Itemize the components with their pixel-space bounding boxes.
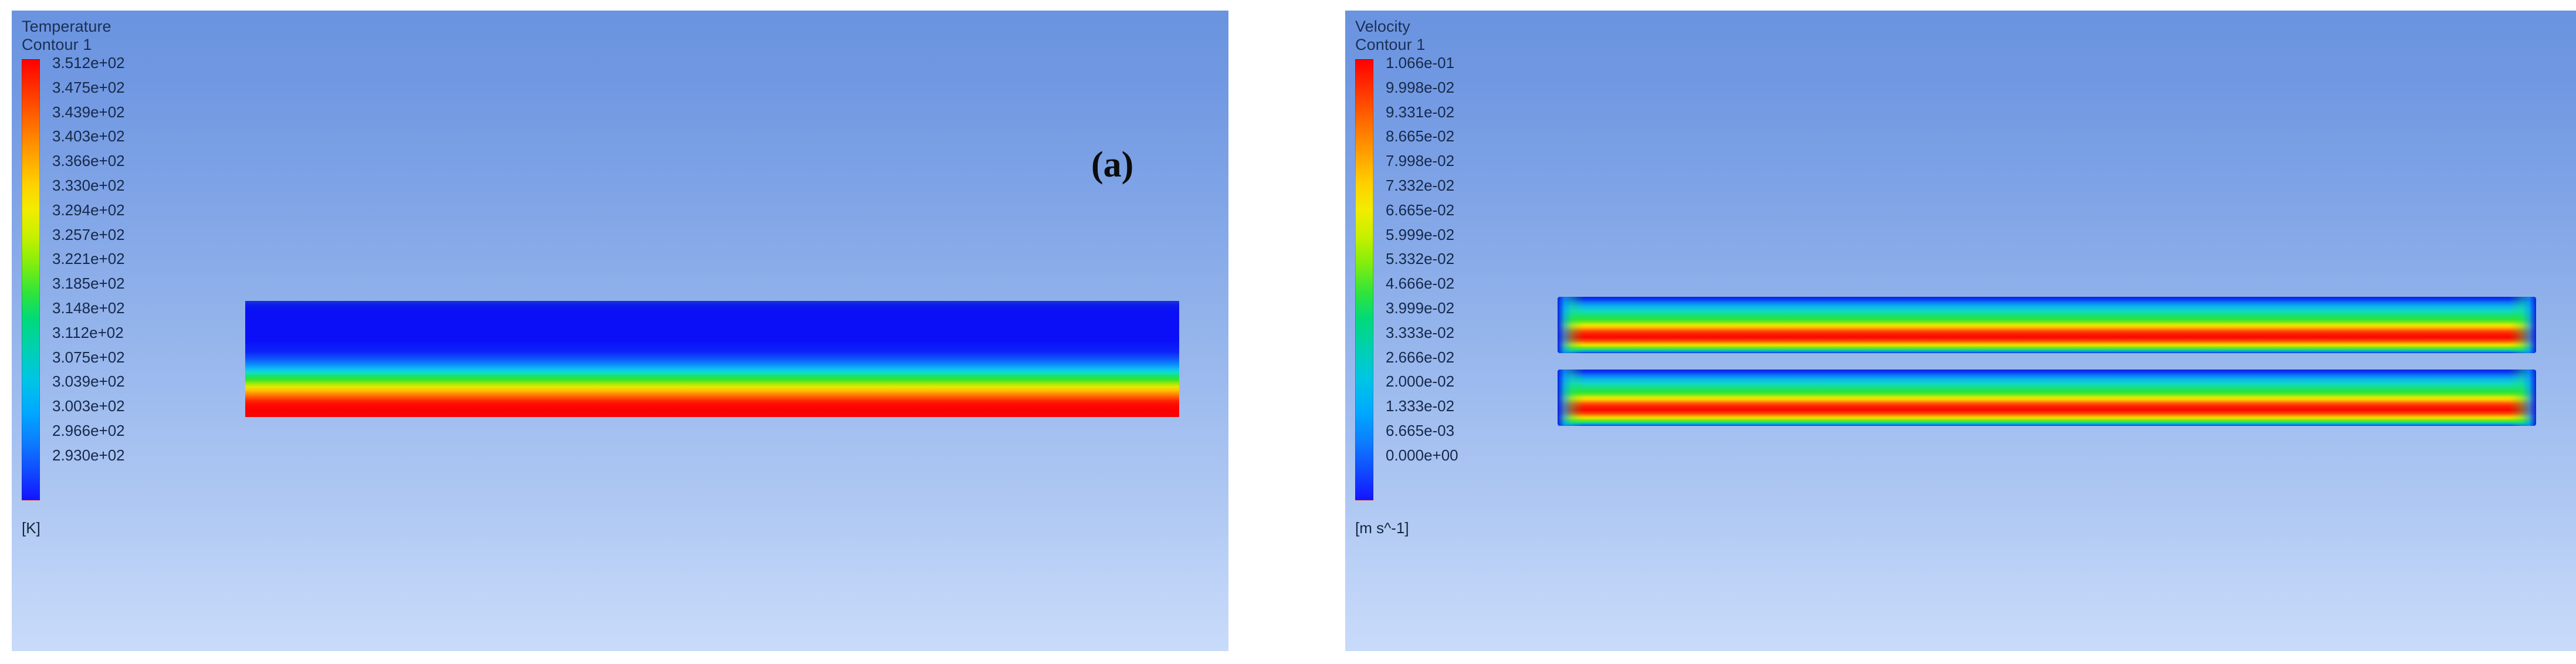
tick-value: 2.666e-02 bbox=[1386, 345, 1532, 370]
tick-value: 3.221e+02 bbox=[52, 247, 199, 272]
figure-root: Temperature Contour 1 3.512e+02 3.475e+0… bbox=[0, 0, 2576, 664]
tick-value: 8.665e-02 bbox=[1386, 124, 1532, 149]
temperature-legend-title-line1: Temperature bbox=[22, 18, 198, 36]
tick-value: 3.366e+02 bbox=[52, 149, 199, 174]
tick-value: 3.039e+02 bbox=[52, 370, 199, 394]
tick-value: 3.003e+02 bbox=[52, 394, 199, 419]
tick-value: 1.066e-01 bbox=[1386, 51, 1532, 76]
tick-value: 3.333e-02 bbox=[1386, 321, 1532, 345]
panel-velocity: Velocity Contour 1 1.066e-01 9.998e-02 9… bbox=[1345, 11, 2576, 651]
tick-value: 3.330e+02 bbox=[52, 174, 199, 198]
velocity-channel-lower-outlet-cap bbox=[2509, 370, 2536, 426]
velocity-tick-list: 1.066e-01 9.998e-02 9.331e-02 8.665e-02 … bbox=[1386, 51, 1532, 468]
tick-value: 2.966e+02 bbox=[52, 419, 199, 443]
velocity-legend: Velocity Contour 1 1.066e-01 9.998e-02 9… bbox=[1355, 18, 1531, 500]
tick-value: 3.075e+02 bbox=[52, 345, 199, 370]
tick-value: 3.403e+02 bbox=[52, 124, 199, 149]
tick-value: 3.112e+02 bbox=[52, 321, 199, 345]
velocity-legend-units: [m s^-1] bbox=[1355, 519, 1409, 537]
tick-value: 5.332e-02 bbox=[1386, 247, 1532, 272]
velocity-legend-body: 1.066e-01 9.998e-02 9.331e-02 8.665e-02 … bbox=[1355, 59, 1531, 500]
tick-value: 5.999e-02 bbox=[1386, 223, 1532, 248]
panel-temperature: Temperature Contour 1 3.512e+02 3.475e+0… bbox=[12, 11, 1228, 651]
tick-value: 3.475e+02 bbox=[52, 76, 199, 100]
velocity-channel-upper-outlet-cap bbox=[2509, 297, 2536, 353]
velocity-legend-title-line1: Velocity bbox=[1355, 18, 1531, 36]
tick-value: 2.930e+02 bbox=[52, 443, 199, 468]
tick-value: 3.148e+02 bbox=[52, 296, 199, 321]
velocity-channel-lower bbox=[1558, 370, 2536, 426]
tick-value: 9.998e-02 bbox=[1386, 76, 1532, 100]
tick-value: 2.000e-02 bbox=[1386, 370, 1532, 394]
velocity-colorbar bbox=[1355, 59, 1373, 500]
tick-value: 7.998e-02 bbox=[1386, 149, 1532, 174]
tick-value: 6.665e-02 bbox=[1386, 198, 1532, 223]
tick-value: 3.999e-02 bbox=[1386, 296, 1532, 321]
tick-value: 7.332e-02 bbox=[1386, 174, 1532, 198]
temperature-contour-field bbox=[245, 301, 1179, 417]
temperature-tick-list: 3.512e+02 3.475e+02 3.439e+02 3.403e+02 … bbox=[52, 51, 199, 468]
velocity-channel-upper bbox=[1558, 297, 2536, 353]
tick-value: 3.294e+02 bbox=[52, 198, 199, 223]
tick-value: 3.439e+02 bbox=[52, 100, 199, 125]
velocity-channel-lower-inlet-cap bbox=[1558, 370, 1585, 426]
velocity-channel-upper-inlet-cap bbox=[1558, 297, 1585, 353]
tick-value: 6.665e-03 bbox=[1386, 419, 1532, 443]
tick-value: 3.185e+02 bbox=[52, 272, 199, 296]
temperature-legend: Temperature Contour 1 3.512e+02 3.475e+0… bbox=[22, 18, 198, 500]
tick-value: 1.333e-02 bbox=[1386, 394, 1532, 419]
panel-label-a: (a) bbox=[1091, 147, 1133, 183]
temperature-legend-body: 3.512e+02 3.475e+02 3.439e+02 3.403e+02 … bbox=[22, 59, 198, 500]
temperature-colorbar bbox=[22, 59, 40, 500]
tick-value: 3.512e+02 bbox=[52, 51, 199, 76]
tick-value: 3.257e+02 bbox=[52, 223, 199, 248]
tick-value: 0.000e+00 bbox=[1386, 443, 1532, 468]
temperature-legend-units: [K] bbox=[22, 519, 40, 537]
tick-value: 9.331e-02 bbox=[1386, 100, 1532, 125]
tick-value: 4.666e-02 bbox=[1386, 272, 1532, 296]
